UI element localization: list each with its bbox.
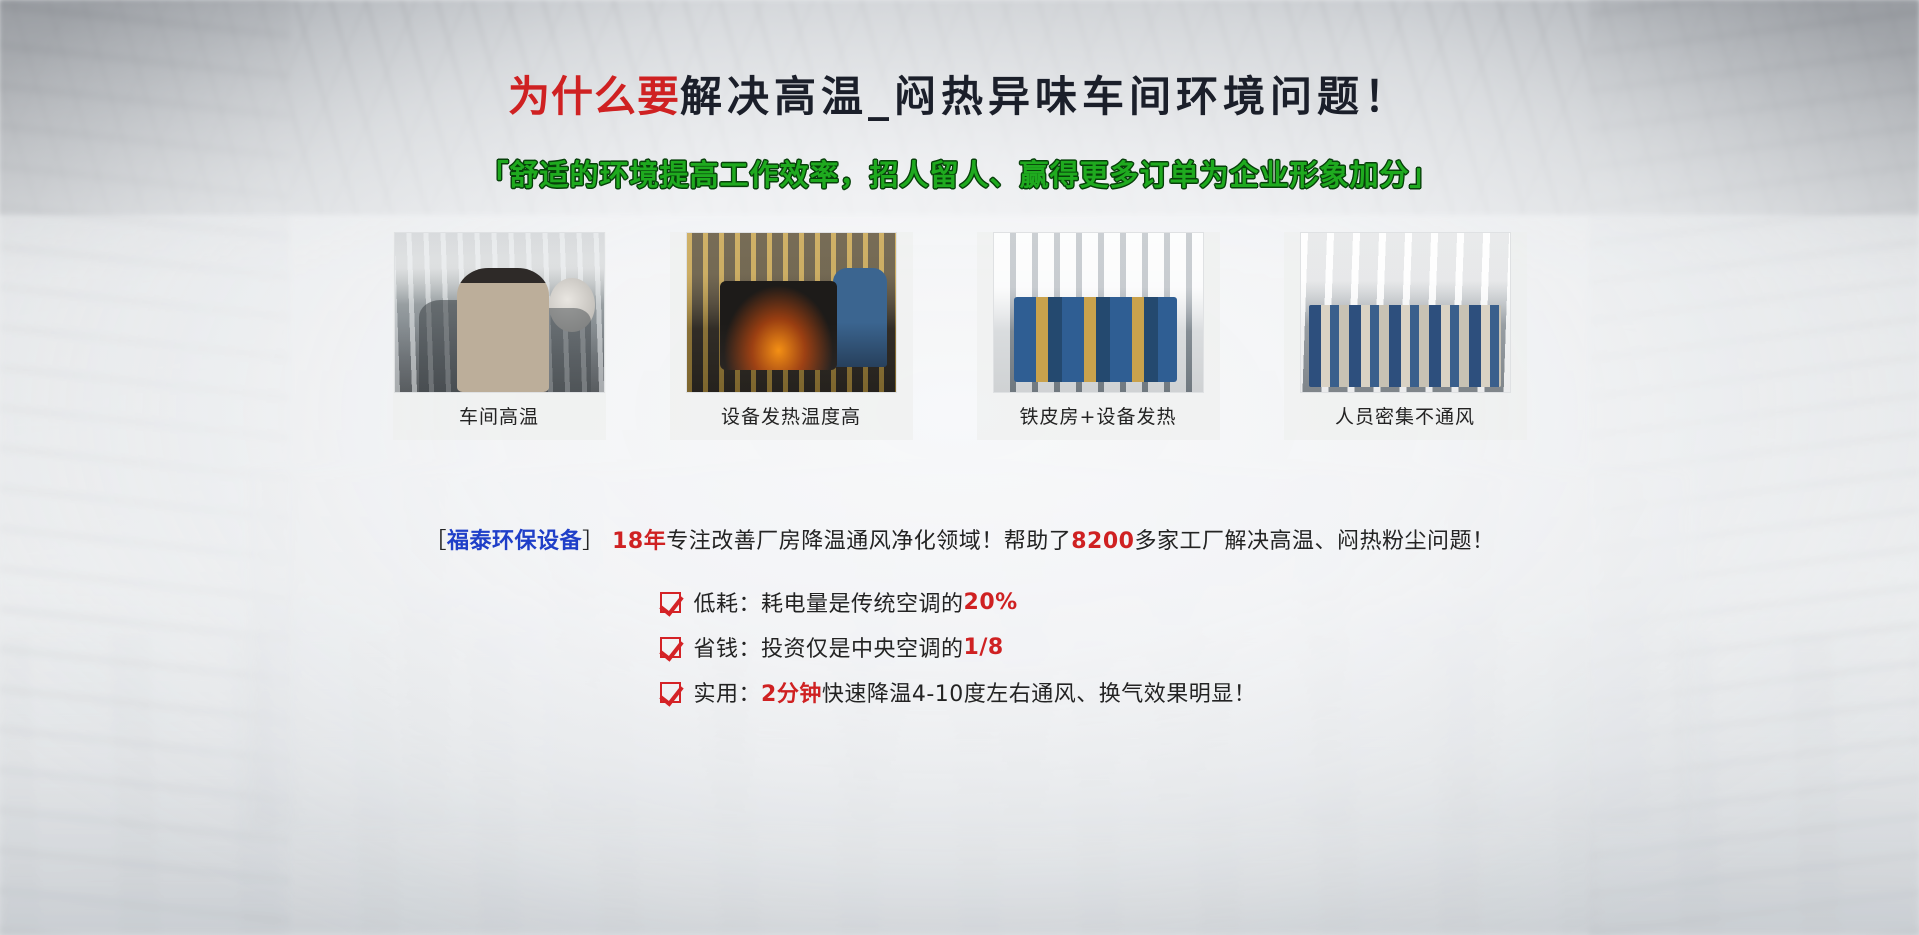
benefit-1-highlight: 20% bbox=[964, 590, 1018, 615]
checkbox-checked-icon bbox=[660, 637, 681, 658]
page-title-red-part: 为什么要 bbox=[508, 72, 680, 121]
crowded-poor-ventilation-photo bbox=[1300, 232, 1511, 393]
equipment-heat-photo bbox=[686, 232, 897, 393]
problem-card-4-caption: 人员密集不通风 bbox=[1335, 393, 1475, 440]
page-subtitle: 「舒适的环境提高工作效率，招人留人、赢得更多订单为企业形象加分」 bbox=[0, 152, 1919, 194]
tagline-factory-count: 8200 bbox=[1071, 529, 1134, 554]
problem-cards-row: 车间高温 设备发热温度高 铁皮房+设备发热 人员密集不通风 bbox=[0, 232, 1919, 440]
tagline-bracket-open: ［ bbox=[425, 529, 448, 554]
benefit-2-text-before: 投资仅是中央空调的 bbox=[761, 631, 964, 663]
workshop-high-temperature-photo bbox=[394, 232, 605, 393]
page-title: 为什么要解决高温_闷热异味车间环境问题！ bbox=[0, 74, 1919, 120]
tagline-tail-text: 多家工厂解决高温、闷热粉尘问题！ bbox=[1134, 529, 1494, 554]
list-item: 省钱：投资仅是中央空调的1/8 bbox=[660, 631, 1260, 663]
benefit-2-label: 省钱： bbox=[694, 631, 762, 663]
photo-art-1-detail bbox=[549, 278, 595, 332]
benefit-1-label: 低耗： bbox=[694, 586, 762, 618]
photo-art-3 bbox=[994, 233, 1203, 392]
benefit-1-text-before: 耗电量是传统空调的 bbox=[761, 586, 964, 618]
problem-card-2-caption: 设备发热温度高 bbox=[721, 393, 861, 440]
checkbox-checked-icon bbox=[660, 592, 681, 613]
benefits-list: 低耗：耗电量是传统空调的20% 省钱：投资仅是中央空调的1/8 实用：2分钟快速… bbox=[0, 586, 1919, 721]
problem-card-4: 人员密集不通风 bbox=[1284, 232, 1527, 440]
photo-art-1 bbox=[395, 233, 604, 392]
benefit-3-highlight: 2分钟 bbox=[761, 676, 822, 708]
page-title-rest: 解决高温_闷热异味车间环境问题！ bbox=[680, 72, 1411, 121]
checkbox-checked-icon bbox=[660, 682, 681, 703]
tagline-middle-text: 专注改善厂房降温通风净化领域！帮助了 bbox=[666, 529, 1071, 554]
photo-art-4 bbox=[1301, 233, 1510, 392]
tagline-bracket-close: ］ bbox=[582, 529, 605, 554]
benefit-2-highlight: 1/8 bbox=[964, 635, 1004, 660]
tagline-years: 18年 bbox=[612, 529, 666, 554]
problem-card-3: 铁皮房+设备发热 bbox=[977, 232, 1220, 440]
benefit-3-label: 实用： bbox=[694, 676, 762, 708]
banner-content: 为什么要解决高温_闷热异味车间环境问题！ 「舒适的环境提高工作效率，招人留人、赢… bbox=[0, 0, 1919, 935]
list-item: 实用：2分钟快速降温4-10度左右通风、换气效果明显！ bbox=[660, 676, 1260, 708]
list-item: 低耗：耗电量是传统空调的20% bbox=[660, 586, 1260, 618]
benefit-3-text-after: 快速降温4-10度左右通风、换气效果明显！ bbox=[822, 676, 1256, 708]
photo-art-2 bbox=[687, 233, 896, 392]
problem-card-1-caption: 车间高温 bbox=[459, 393, 539, 440]
promo-banner: 为什么要解决高温_闷热异味车间环境问题！ 「舒适的环境提高工作效率，招人留人、赢… bbox=[0, 0, 1919, 935]
photo-art-2-detail bbox=[833, 268, 887, 367]
problem-card-1: 车间高温 bbox=[393, 232, 606, 440]
metal-shed-equipment-heat-photo bbox=[993, 232, 1204, 393]
problem-card-3-caption: 铁皮房+设备发热 bbox=[1020, 393, 1177, 440]
problem-card-2: 设备发热温度高 bbox=[670, 232, 913, 440]
company-name: 福泰环保设备 bbox=[447, 529, 582, 554]
company-tagline: ［福泰环保设备］ 18年专注改善厂房降温通风净化领域！帮助了8200多家工厂解决… bbox=[0, 523, 1919, 555]
